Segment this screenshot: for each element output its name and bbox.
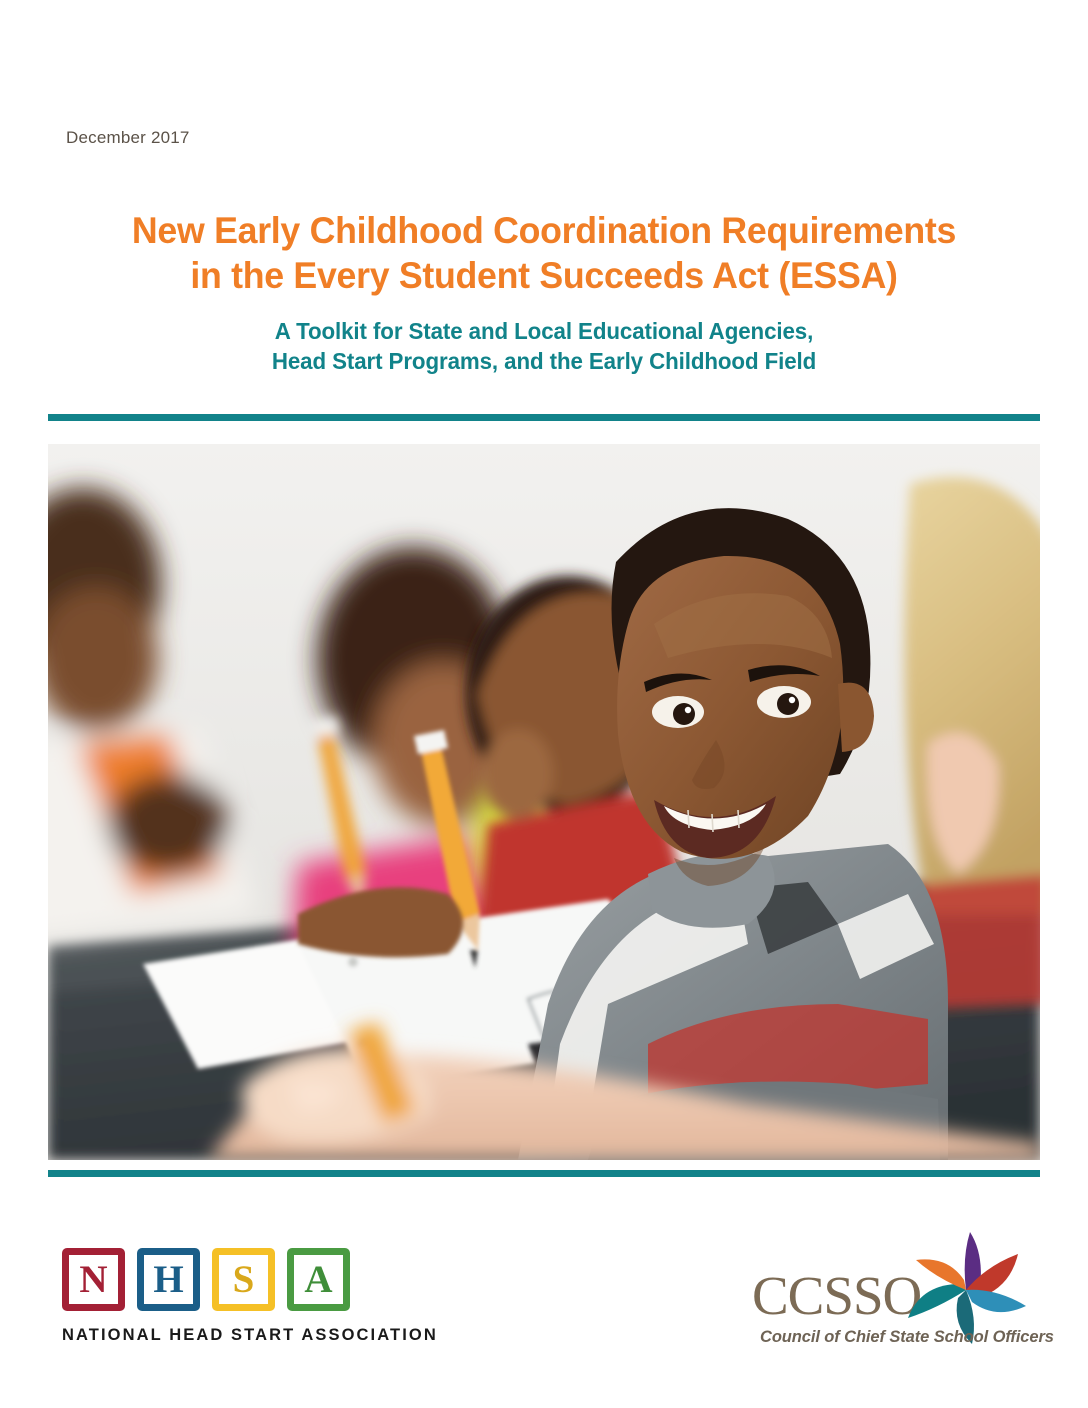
ccsso-logo: CCSSO Council of Chief State School Offi… xyxy=(752,1232,1042,1360)
cover-photo-artwork xyxy=(48,444,1040,1160)
page-title: New Early Childhood Coordination Require… xyxy=(65,208,1022,298)
nhsa-block-s: S xyxy=(212,1248,275,1311)
cover-photo xyxy=(48,444,1040,1160)
page-subtitle: A Toolkit for State and Local Educationa… xyxy=(63,316,1025,376)
divider-top xyxy=(48,414,1040,421)
nhsa-letter-blocks: N H S A xyxy=(62,1248,362,1311)
nhsa-block-h: H xyxy=(137,1248,200,1311)
ccsso-tagline: Council of Chief State School Officers xyxy=(760,1328,1054,1347)
page-title-line-2: in the Every Student Succeeds Act (ESSA) xyxy=(65,253,1022,298)
title-block: New Early Childhood Coordination Require… xyxy=(48,208,1040,376)
page-subtitle-line-2: Head Start Programs, and the Early Child… xyxy=(63,346,1025,376)
publication-date: December 2017 xyxy=(66,128,190,148)
nhsa-block-a: A xyxy=(287,1248,350,1311)
nhsa-organization-name: NATIONAL HEAD START ASSOCIATION xyxy=(62,1326,362,1345)
divider-bottom xyxy=(48,1170,1040,1177)
ccsso-wordmark: CCSSO xyxy=(752,1268,921,1323)
nhsa-logo: N H S A NATIONAL HEAD START ASSOCIATION xyxy=(62,1248,362,1345)
document-cover-page: December 2017 New Early Childhood Coordi… xyxy=(0,0,1088,1408)
page-subtitle-line-1: A Toolkit for State and Local Educationa… xyxy=(63,316,1025,346)
nhsa-block-n: N xyxy=(62,1248,125,1311)
page-title-line-1: New Early Childhood Coordination Require… xyxy=(65,208,1022,253)
